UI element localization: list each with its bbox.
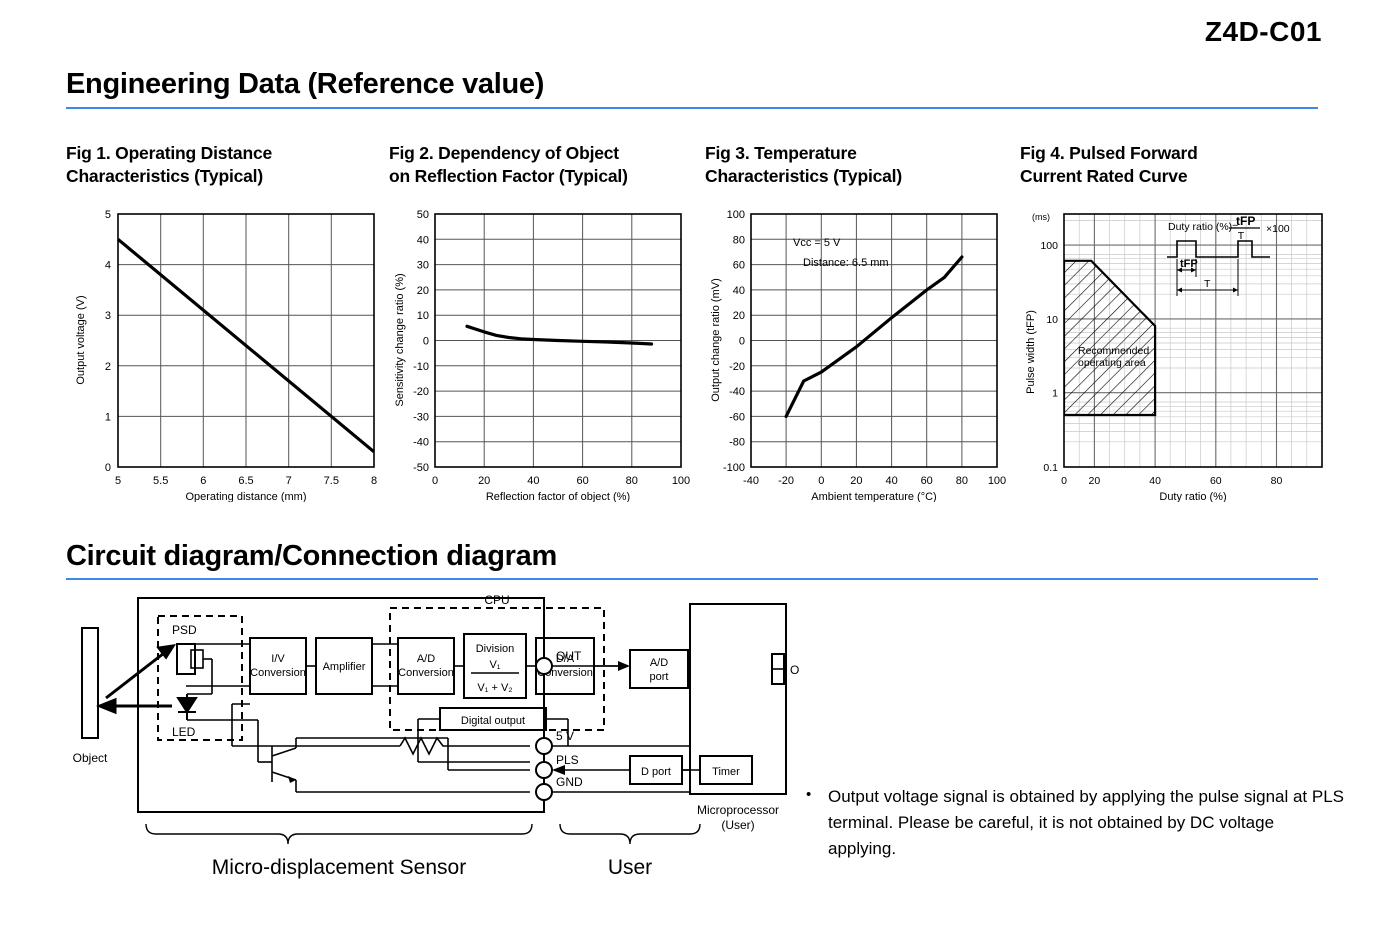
page-title: Engineering Data (Reference value) xyxy=(66,68,544,101)
svg-text:0: 0 xyxy=(739,336,745,348)
svg-text:0: 0 xyxy=(432,475,438,487)
figure-2-chart: -50 -40 -30 -20 -10 0 10 20 30 40 50 0 2… xyxy=(389,202,709,502)
figure-3-title: Fig 3. Temperature Characteristics (Typi… xyxy=(705,142,1005,188)
figure-2: Fig 2. Dependency of Object on Reflectio… xyxy=(389,142,697,188)
figure-4-xlabel: Duty ratio (%) xyxy=(1159,491,1226,502)
figure-1-chart: 0 1 2 3 4 5 5 5.5 6 6.5 7 7.5 8 Operatin… xyxy=(66,202,396,502)
svg-text:-20: -20 xyxy=(729,361,745,373)
figure-4-formula-prefix: Duty ratio (%)= xyxy=(1168,221,1238,233)
svg-text:100: 100 xyxy=(988,475,1006,487)
block-ad-line2: Conversion xyxy=(398,667,454,679)
brace-label-user: User xyxy=(608,856,652,879)
block-division-title: Division xyxy=(476,643,515,655)
svg-text:1: 1 xyxy=(1052,388,1058,400)
circuit-section-rule xyxy=(66,578,1318,580)
svg-text:5: 5 xyxy=(105,209,111,221)
svg-text:10: 10 xyxy=(1046,314,1058,326)
figure-2-ylabel: Sensitivity change ratio (%) xyxy=(394,273,406,406)
svg-text:-50: -50 xyxy=(413,462,429,474)
cpu-label: CPU xyxy=(484,593,509,607)
figure-3: Fig 3. Temperature Characteristics (Typi… xyxy=(705,142,1005,188)
figure-3-ylabel: Output change ratio (mV) xyxy=(710,278,722,402)
svg-text:0: 0 xyxy=(105,462,111,474)
block-ad-line1: A/D xyxy=(417,653,435,665)
figure-4-label-period: T xyxy=(1204,278,1211,290)
object-label: Object xyxy=(73,751,108,765)
microprocessor-label-2: (User) xyxy=(721,818,754,832)
svg-text:7: 7 xyxy=(286,475,292,487)
svg-text:-80: -80 xyxy=(729,437,745,449)
svg-text:6.5: 6.5 xyxy=(238,475,253,487)
svg-text:100: 100 xyxy=(727,209,745,221)
svg-text:-20: -20 xyxy=(778,475,794,487)
figure-4-ylabel: Pulse width (tFP) xyxy=(1025,310,1037,394)
svg-text:60: 60 xyxy=(1210,475,1222,487)
svg-text:40: 40 xyxy=(417,234,429,246)
svg-text:80: 80 xyxy=(956,475,968,487)
brace-label-sensor: Micro-displacement Sensor xyxy=(212,856,466,879)
figure-4-label-pulse-width: tFP xyxy=(1180,258,1198,270)
terminal-out: OUT xyxy=(556,649,582,663)
svg-text:3: 3 xyxy=(105,310,111,322)
svg-text:4: 4 xyxy=(105,260,111,272)
svg-text:-30: -30 xyxy=(413,411,429,423)
svg-text:8: 8 xyxy=(371,475,377,487)
svg-text:20: 20 xyxy=(478,475,490,487)
svg-text:10: 10 xyxy=(417,310,429,322)
svg-text:40: 40 xyxy=(1149,475,1161,487)
svg-text:60: 60 xyxy=(576,475,588,487)
figure-1-ylabel: Output voltage (V) xyxy=(75,295,87,384)
block-iv-line2: Conversion xyxy=(250,667,306,679)
figure-4-formula-suffix: ×100 xyxy=(1266,223,1290,235)
terminal-pls: PLS xyxy=(556,753,579,767)
svg-text:-40: -40 xyxy=(729,386,745,398)
figure-4-formula-denominator: T xyxy=(1238,230,1245,242)
microprocessor-label-1: Microprocessor xyxy=(697,803,779,817)
psd-label: PSD xyxy=(172,623,197,637)
terminal-5v: 5 V xyxy=(556,729,574,743)
svg-text:-40: -40 xyxy=(743,475,759,487)
svg-text:0: 0 xyxy=(818,475,824,487)
svg-text:0: 0 xyxy=(423,336,429,348)
svg-text:80: 80 xyxy=(626,475,638,487)
figure-4-region-label-2: operating area xyxy=(1078,357,1146,369)
circuit-diagram: Object PSD LED xyxy=(60,586,800,906)
svg-text:2: 2 xyxy=(105,361,111,373)
figure-4-chart: Duty ratio (%)= tFP T ×100 tFP T Recomme… xyxy=(1020,202,1350,502)
figure-1-xlabel: Operating distance (mm) xyxy=(185,491,306,502)
note-text: Output voltage signal is obtained by app… xyxy=(828,784,1346,861)
svg-text:20: 20 xyxy=(733,310,745,322)
figure-4-title: Fig 4. Pulsed Forward Current Rated Curv… xyxy=(1020,142,1340,188)
svg-text:100: 100 xyxy=(672,475,690,487)
block-digital-output: Digital output xyxy=(461,715,525,727)
figure-1-title: Fig 1. Operating Distance Characteristic… xyxy=(66,142,366,188)
svg-text:20: 20 xyxy=(850,475,862,487)
title-rule xyxy=(66,107,1318,109)
svg-text:50: 50 xyxy=(417,209,429,221)
led-label: LED xyxy=(172,725,196,739)
user-block-ad-line2: port xyxy=(650,671,669,683)
terminal-gnd: GND xyxy=(556,775,583,789)
user-block-dport: D port xyxy=(641,766,671,778)
svg-text:60: 60 xyxy=(921,475,933,487)
svg-text:20: 20 xyxy=(1089,475,1101,487)
svg-text:7.5: 7.5 xyxy=(324,475,339,487)
block-amplifier: Amplifier xyxy=(323,661,366,673)
block-division-numerator: V₁ xyxy=(489,659,500,671)
figure-4-yunit: (ms) xyxy=(1032,212,1050,222)
figure-2-xlabel: Reflection factor of object (%) xyxy=(486,491,630,502)
brace-group xyxy=(146,824,700,844)
svg-text:40: 40 xyxy=(527,475,539,487)
figure-4-region-label-1: Recommended xyxy=(1078,345,1149,357)
svg-text:-40: -40 xyxy=(413,437,429,449)
figure-4-formula-numerator: tFP xyxy=(1236,214,1255,228)
user-block-timer: Timer xyxy=(712,766,740,778)
figure-1: Fig 1. Operating Distance Characteristic… xyxy=(66,142,366,188)
svg-text:20: 20 xyxy=(417,285,429,297)
svg-text:60: 60 xyxy=(733,260,745,272)
figure-4: Fig 4. Pulsed Forward Current Rated Curv… xyxy=(1020,142,1340,188)
svg-text:5.5: 5.5 xyxy=(153,475,168,487)
figure-2-title: Fig 2. Dependency of Object on Reflectio… xyxy=(389,142,697,188)
svg-text:0: 0 xyxy=(1061,475,1067,487)
note-block: • Output voltage signal is obtained by a… xyxy=(806,784,1346,861)
figure-3-annotation-1: Vcc = 5 V xyxy=(793,237,841,249)
svg-text:1: 1 xyxy=(105,411,111,423)
svg-text:-100: -100 xyxy=(723,462,745,474)
svg-text:0.1: 0.1 xyxy=(1043,462,1058,474)
svg-text:-10: -10 xyxy=(413,361,429,373)
svg-text:30: 30 xyxy=(417,260,429,272)
svg-text:80: 80 xyxy=(733,234,745,246)
datasheet-page: Z4D-C01 Engineering Data (Reference valu… xyxy=(0,0,1378,942)
figure-3-annotation-2: Distance: 6.5 mm xyxy=(803,257,889,269)
svg-text:6: 6 xyxy=(200,475,206,487)
svg-text:5: 5 xyxy=(115,475,121,487)
figure-3-chart: Vcc = 5 V Distance: 6.5 mm -100 -80 -60 … xyxy=(705,202,1025,502)
output-label: Output xyxy=(790,663,800,677)
user-block-ad-line1: A/D xyxy=(650,657,668,669)
svg-text:80: 80 xyxy=(1271,475,1283,487)
svg-text:40: 40 xyxy=(885,475,897,487)
svg-text:-20: -20 xyxy=(413,386,429,398)
circuit-section-title: Circuit diagram/Connection diagram xyxy=(66,540,557,573)
figure-3-xlabel: Ambient temperature (°C) xyxy=(811,491,936,502)
part-number: Z4D-C01 xyxy=(1205,16,1322,48)
block-division-denominator: V₁ + V₂ xyxy=(477,682,512,694)
note-bullet: • xyxy=(806,784,811,807)
block-iv-line1: I/V xyxy=(271,653,285,665)
svg-text:100: 100 xyxy=(1040,240,1058,252)
svg-text:-60: -60 xyxy=(729,411,745,423)
svg-text:40: 40 xyxy=(733,285,745,297)
